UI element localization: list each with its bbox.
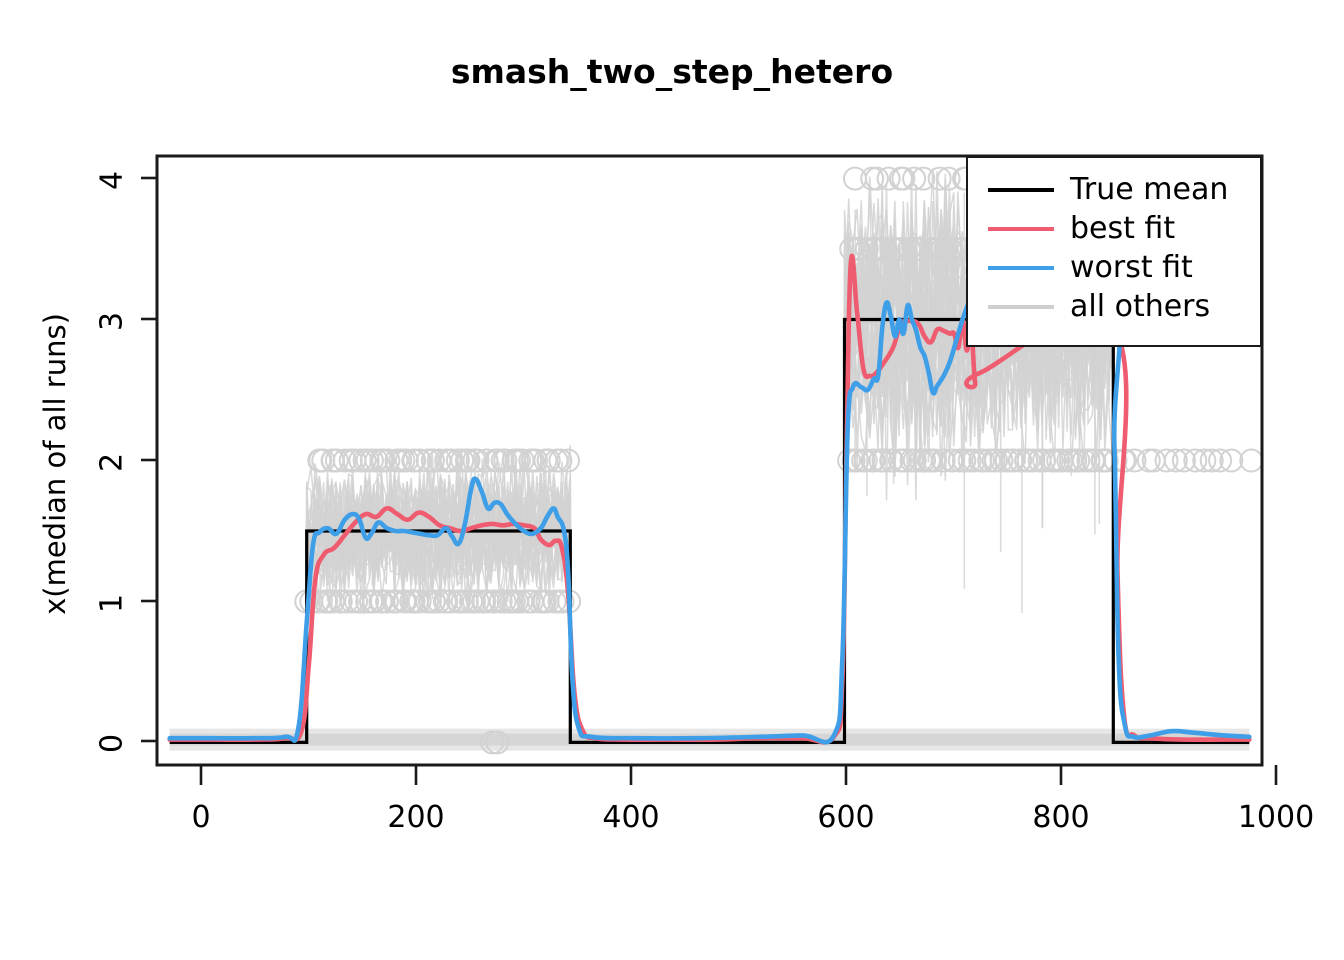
figure-canvas: smash_two_step_hetero x(median of all ru… (0, 0, 1344, 960)
legend-label: best fit (1070, 214, 1175, 244)
legend-label: all others (1070, 292, 1210, 322)
plot-area (0, 0, 1344, 960)
legend-label: worst fit (1070, 253, 1193, 283)
run-marker (1240, 450, 1262, 472)
legend-label: True mean (1070, 175, 1228, 205)
legend-item-all-others: all others (968, 287, 1264, 326)
legend-swatch-icon (988, 219, 1054, 239)
legend-item-best-fit: best fit (968, 209, 1264, 248)
legend-swatch-icon (988, 180, 1054, 200)
legend-item-worst-fit: worst fit (968, 248, 1264, 287)
legend-swatch-icon (988, 297, 1054, 317)
legend: True mean best fit worst fit all others (966, 156, 1262, 347)
legend-item-true-mean: True mean (968, 170, 1264, 209)
legend-swatch-icon (988, 258, 1054, 278)
run-marker (844, 168, 866, 190)
